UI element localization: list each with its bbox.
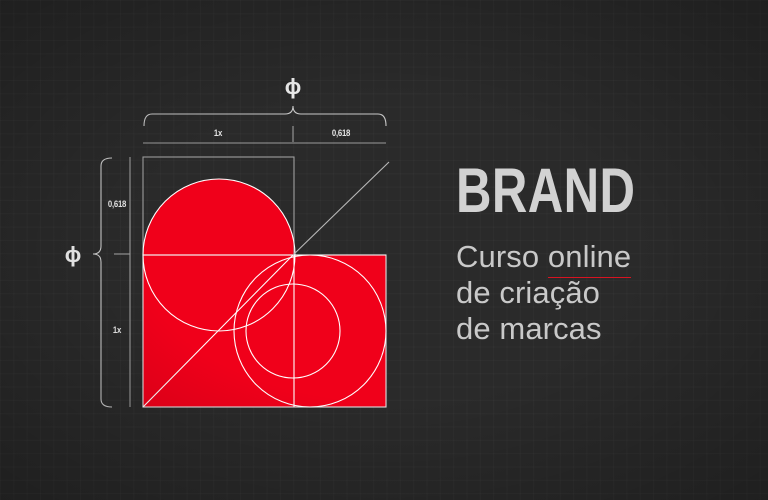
red-right-lobe	[234, 255, 386, 407]
poster-canvas: 1x 0,618 0,618 1x ɸ ɸ BRAND Curso online…	[0, 0, 768, 500]
top-brace	[144, 106, 386, 126]
left-measure-group	[93, 157, 130, 407]
page-title: BRAND	[456, 163, 682, 221]
subtitle-line-2: de criação	[456, 275, 746, 311]
phi-top-symbol: ɸ	[285, 74, 302, 99]
label-top-1x: 1x	[214, 127, 223, 138]
subtitle-block: Curso online de criação de marcas	[456, 239, 746, 348]
subtitle-line-3: de marcas	[456, 311, 746, 347]
label-left-1x: 1x	[113, 324, 122, 335]
label-left-0618: 0,618	[108, 198, 127, 209]
text-block: BRAND Curso online de criação de marcas	[456, 163, 746, 348]
phi-left-symbol: ɸ	[65, 242, 82, 267]
diagonal-upper	[293, 162, 389, 255]
left-brace	[93, 158, 112, 407]
subtitle-line-1: Curso online	[456, 239, 746, 275]
subtitle-line-1-prefix: Curso	[456, 239, 548, 274]
subtitle-line-1-underlined: online	[548, 239, 631, 275]
label-top-0618: 0,618	[332, 127, 351, 138]
